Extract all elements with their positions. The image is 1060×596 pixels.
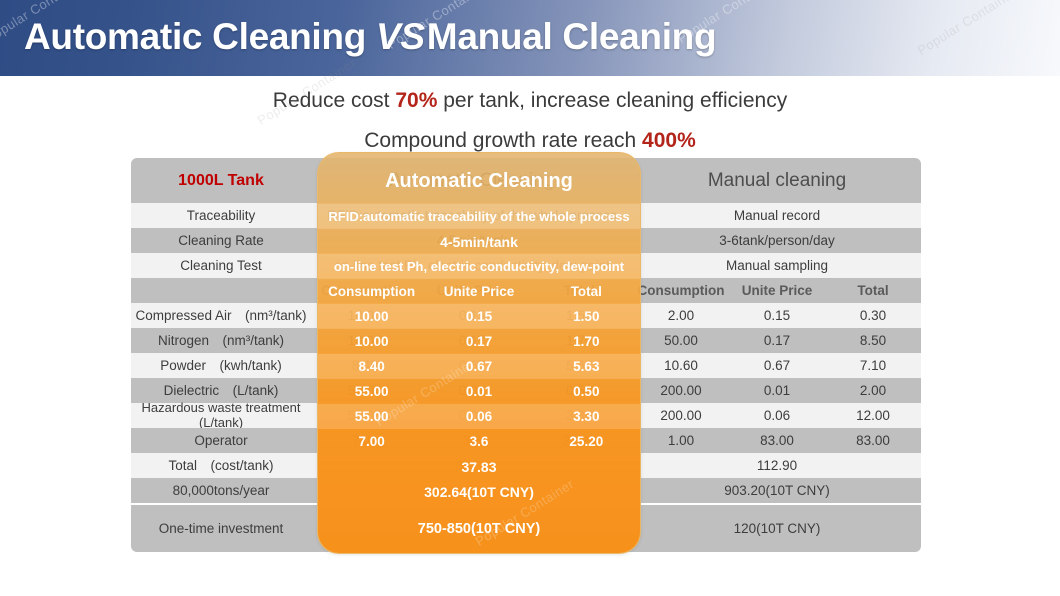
subheader-manual-total: Total: [825, 278, 921, 303]
panel-row: on-line test Ph, electric conductivity, …: [318, 254, 640, 279]
subheader-blank: [131, 278, 311, 303]
row-label: Cleaning Rate: [131, 228, 311, 253]
row-manual-values: 2.00 0.15 0.30: [633, 303, 921, 328]
row-manual-value: 112.90: [633, 453, 921, 478]
panel-total-row: 302.64(10T CNY): [318, 479, 640, 504]
row-label: Compressed Air (nm³/tank): [131, 303, 311, 328]
panel-total-row: 37.83: [318, 454, 640, 479]
panel-title: Automatic Cleaning: [318, 159, 640, 204]
row-manual-values: 50.00 0.17 8.50: [633, 328, 921, 353]
cell-value: 12.00: [825, 403, 921, 428]
cell-value: 2.00: [633, 303, 729, 328]
panel-cell-value: 0.17: [425, 334, 532, 349]
cell-value: 1.00: [633, 428, 729, 453]
cell-value: 10.60: [633, 353, 729, 378]
panel-cell-value: 7.00: [318, 434, 425, 449]
row-manual-values: 200.00 0.06 12.00: [633, 403, 921, 428]
row-label: Traceability: [131, 203, 311, 228]
cell-value: 83.00: [729, 428, 825, 453]
row-manual-values: 200.00 0.01 2.00: [633, 378, 921, 403]
panel-cell-value: 25.20: [533, 434, 640, 449]
panel-cell-value: 5.63: [533, 359, 640, 374]
panel-row: 8.40 0.67 5.63: [318, 354, 640, 379]
panel-cell-value: 55.00: [318, 409, 425, 424]
panel-cell-value: 0.50: [533, 384, 640, 399]
panel-cell-value: 3.30: [533, 409, 640, 424]
panel-cell-value: 10.00: [318, 309, 425, 324]
panel-cell-value: 1.50: [533, 309, 640, 324]
panel-row: RFID:automatic traceability of the whole…: [318, 204, 640, 229]
panel-row: 55.00 0.01 0.50: [318, 379, 640, 404]
row-label: Total (cost/tank): [131, 453, 311, 478]
cell-value: 50.00: [633, 328, 729, 353]
title-banner: Automatic CleaningVSManual Cleaning Popu…: [0, 0, 1060, 76]
row-label: Nitrogen (nm³/tank): [131, 328, 311, 353]
title-manual: Manual Cleaning: [427, 16, 716, 57]
subheader-manual: Consumption Unite Price Total: [633, 278, 921, 303]
subtitle2-highlight: 400%: [642, 129, 696, 152]
row-manual-value: 120(10T CNY): [633, 505, 921, 552]
cell-value: 8.50: [825, 328, 921, 353]
subtitle-line-2: Compound growth rate reach 400%: [0, 129, 1060, 153]
row-label: Hazardous waste treatment (L/tank): [131, 403, 311, 428]
title-automatic: Automatic Cleaning: [24, 16, 366, 57]
panel-cell-value: 1.70: [533, 334, 640, 349]
row-label: Powder (kwh/tank): [131, 353, 311, 378]
cell-value: 0.67: [729, 353, 825, 378]
panel-subheader-unit-price: Unite Price: [425, 284, 532, 299]
header-cell-manual: Manual cleaning: [633, 158, 921, 203]
subtitle-line-1: Reduce cost 70% per tank, increase clean…: [0, 89, 1060, 113]
panel-cell-value: 8.40: [318, 359, 425, 374]
row-manual-value: Manual sampling: [633, 253, 921, 278]
panel-cell-value: 3.6: [425, 434, 532, 449]
panel-cell-value: 0.67: [425, 359, 532, 374]
row-label: Cleaning Test: [131, 253, 311, 278]
row-label: 80,000tons/year: [131, 478, 311, 503]
subtitle1-highlight: 70%: [395, 89, 437, 112]
panel-subheader-row: Consumption Unite Price Total: [318, 279, 640, 304]
panel-subheader-total: Total: [533, 284, 640, 299]
cell-value: 0.06: [729, 403, 825, 428]
cell-value: 0.01: [729, 378, 825, 403]
subtitle1-text-b: per tank, increase cleaning efficiency: [437, 89, 787, 112]
panel-row: 55.00 0.06 3.30: [318, 404, 640, 429]
row-label: One-time investment: [131, 505, 311, 552]
subheader-manual-consumption: Consumption: [633, 278, 729, 303]
cell-value: 7.10: [825, 353, 921, 378]
page-title: Automatic CleaningVSManual Cleaning: [24, 16, 716, 58]
panel-row: 10.00 0.15 1.50: [318, 304, 640, 329]
panel-cell-value: 0.15: [425, 309, 532, 324]
cell-value: 0.17: [729, 328, 825, 353]
row-manual-values: 10.60 0.67 7.10: [633, 353, 921, 378]
row-manual-value: Manual record: [633, 203, 921, 228]
row-manual-value: 903.20(10T CNY): [633, 478, 921, 503]
panel-row: 10.00 0.17 1.70: [318, 329, 640, 354]
automatic-cleaning-highlight-panel: Automatic Cleaning RFID:automatic tracea…: [317, 152, 641, 554]
panel-total-row: 750-850(10T CNY): [318, 504, 640, 553]
subtitle1-text-a: Reduce cost: [273, 89, 396, 112]
panel-row: 4-5min/tank: [318, 229, 640, 254]
panel-cell-value: 0.06: [425, 409, 532, 424]
panel-cell-value: 0.01: [425, 384, 532, 399]
row-manual-values: 1.00 83.00 83.00: [633, 428, 921, 453]
panel-subheader-consumption: Consumption: [318, 284, 425, 299]
title-vs: VS: [366, 16, 427, 57]
cell-value: 0.15: [729, 303, 825, 328]
subheader-manual-unit-price: Unite Price: [729, 278, 825, 303]
panel-row: 7.00 3.6 25.20: [318, 429, 640, 454]
panel-cell-value: 55.00: [318, 384, 425, 399]
watermark: Popular Container: [915, 0, 1019, 58]
subtitle2-text-a: Compound growth rate reach: [364, 129, 642, 152]
cell-value: 83.00: [825, 428, 921, 453]
cell-value: 0.30: [825, 303, 921, 328]
row-label: Operator: [131, 428, 311, 453]
row-manual-value: 3-6tank/person/day: [633, 228, 921, 253]
cell-value: 200.00: [633, 403, 729, 428]
header-cell-tank: 1000L Tank: [131, 158, 311, 203]
cell-value: 2.00: [825, 378, 921, 403]
panel-cell-value: 10.00: [318, 334, 425, 349]
cell-value: 200.00: [633, 378, 729, 403]
